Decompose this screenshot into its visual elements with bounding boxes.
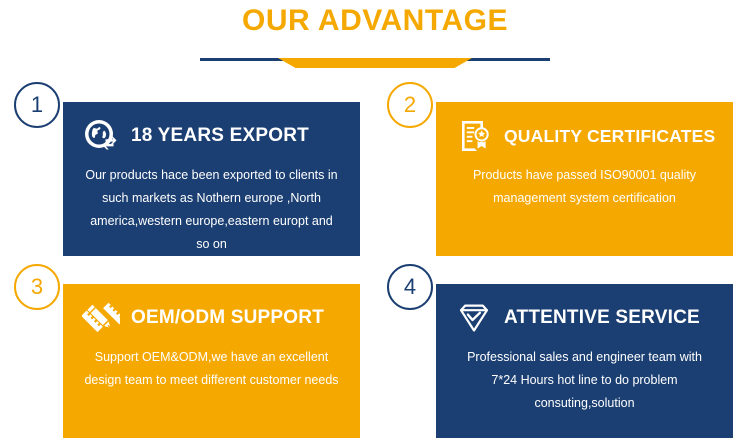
card-body: OEM/ODM SUPPORT Support OEM&ODM,we have … [63,284,360,438]
card-title: ATTENTIVE SERVICE [504,307,700,329]
advantage-card-1[interactable]: 18 YEARS EXPORT Our products hace been e… [8,82,370,257]
card-header: 18 YEARS EXPORT [77,112,346,160]
card-header: ATTENTIVE SERVICE [450,294,719,342]
card-header: OEM/ODM SUPPORT [77,294,346,342]
advantage-card-2[interactable]: QUALITY CERTIFICATES Products have passe… [381,82,743,257]
advantage-card-grid: 18 YEARS EXPORT Our products hace been e… [0,78,750,445]
section-divider [200,52,550,72]
card-description: Our products hace been exported to clien… [77,164,346,257]
divider-accent-trapezoid [278,58,472,68]
pencil-ruler-design-icon [81,298,121,338]
card-number-badge: 3 [14,264,60,310]
card-body: QUALITY CERTIFICATES Products have passe… [436,102,733,256]
globe-export-icon [81,116,121,156]
card-title: 18 YEARS EXPORT [131,125,309,147]
card-body: 18 YEARS EXPORT Our products hace been e… [63,102,360,256]
card-title: OEM/ODM SUPPORT [131,307,324,329]
page-title: OUR ADVANTAGE [0,4,750,38]
card-description: Products have passed ISO90001 quality ma… [450,164,719,210]
card-description: Professional sales and engineer team wit… [450,346,719,415]
page-header: OUR ADVANTAGE [0,0,750,78]
advantage-card-4[interactable]: ATTENTIVE SERVICE Professional sales and… [381,264,743,439]
diamond-check-icon [454,298,494,338]
card-body: ATTENTIVE SERVICE Professional sales and… [436,284,733,438]
certificate-seal-icon [454,116,494,156]
card-header: QUALITY CERTIFICATES [450,112,719,160]
card-number-badge: 2 [387,82,433,128]
advantage-card-3[interactable]: OEM/ODM SUPPORT Support OEM&ODM,we have … [8,264,370,439]
card-number-badge: 1 [14,82,60,128]
card-number-badge: 4 [387,264,433,310]
card-title: QUALITY CERTIFICATES [504,126,715,147]
card-description: Support OEM&ODM,we have an excellent des… [77,346,346,392]
